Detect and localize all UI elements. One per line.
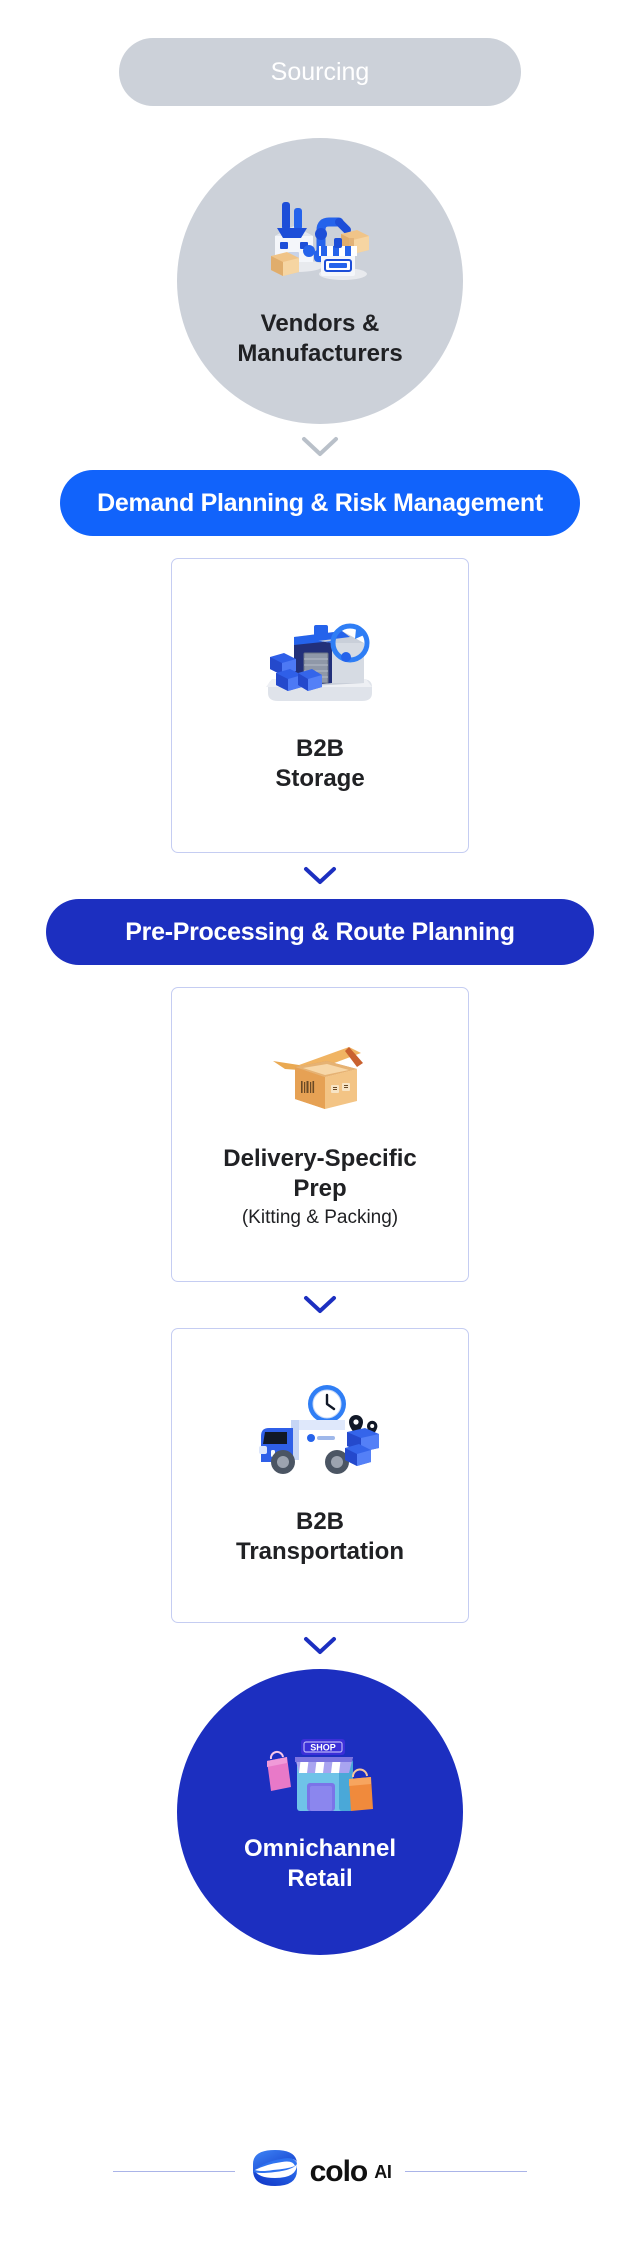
node-delivery-prep-sublabel: (Kitting & Packing): [242, 1206, 398, 1230]
connector-chevron-blue-1: [303, 853, 337, 899]
node-vendors-label-line2: Manufacturers: [237, 339, 402, 368]
stage-pill-pre-processing-label: Pre-Processing & Route Planning: [125, 920, 514, 945]
stage-pill-sourcing: Sourcing: [119, 38, 521, 106]
node-b2b-transportation-label: B2B Transportation: [236, 1507, 404, 1567]
chevron-down-icon: [301, 435, 339, 459]
node-delivery-prep-label: Delivery-Specific Prep: [223, 1144, 416, 1204]
open-cardboard-box-icon: [265, 1039, 375, 1128]
colo-ai-logo: colo AI: [249, 2146, 392, 2197]
warehouse-boxes-icon: [258, 617, 382, 718]
node-b2b-storage-label: B2B Storage: [275, 734, 364, 794]
node-omnichannel-retail-label-line1: Omnichannel: [244, 1834, 396, 1863]
chevron-down-icon: [303, 865, 337, 887]
node-vendors-label-line1: Vendors &: [237, 309, 402, 338]
chevron-down-icon: [303, 1635, 337, 1657]
connector-chevron-blue-3: [303, 1623, 337, 1669]
footer-brand-bar: colo AI: [0, 2146, 640, 2197]
connector-chevron-gray: [301, 424, 339, 470]
factory-robot-arm-supplier-icon: [261, 194, 379, 295]
svg-text:SHOP: SHOP: [310, 1743, 336, 1753]
node-b2b-transportation-label-line1: B2B: [236, 1507, 404, 1537]
node-omnichannel-retail-label: Omnichannel Retail: [244, 1834, 396, 1893]
colo-wordmark: colo: [310, 2157, 368, 2187]
stage-pill-pre-processing: Pre-Processing & Route Planning: [46, 899, 594, 965]
stage-pill-demand-planning-label: Demand Planning & Risk Management: [97, 491, 543, 516]
node-delivery-specific-prep: Delivery-Specific Prep (Kitting & Packin…: [171, 987, 469, 1282]
ai-wordmark: AI: [374, 2163, 391, 2181]
stage-pill-demand-planning: Demand Planning & Risk Management: [60, 470, 580, 536]
connector-chevron-blue-2: [303, 1282, 337, 1328]
node-delivery-prep-label-line2: Prep: [223, 1174, 416, 1204]
chevron-down-icon: [303, 1294, 337, 1316]
node-b2b-transportation-label-line2: Transportation: [236, 1537, 404, 1567]
node-vendors-manufacturers: Vendors & Manufacturers: [177, 138, 463, 424]
node-b2b-storage-label-line1: B2B: [275, 734, 364, 764]
node-b2b-storage: B2B Storage: [171, 558, 469, 853]
colo-ribbon-logo-icon: [249, 2146, 301, 2197]
stage-pill-sourcing-label: Sourcing: [271, 60, 370, 85]
node-omnichannel-retail: SHOP Omnichannel Retail: [177, 1669, 463, 1955]
node-b2b-storage-label-line2: Storage: [275, 764, 364, 794]
node-b2b-transportation: B2B Transportation: [171, 1328, 469, 1623]
footer-rule-right: [405, 2171, 527, 2172]
node-omnichannel-retail-label-line2: Retail: [244, 1864, 396, 1893]
delivery-truck-clock-pins-icon: [253, 1384, 387, 1491]
supply-chain-flow-diagram: Sourcing: [0, 0, 640, 2245]
node-vendors-label: Vendors & Manufacturers: [237, 309, 402, 368]
node-delivery-prep-label-line1: Delivery-Specific: [223, 1144, 416, 1174]
footer-rule-left: [113, 2171, 235, 2172]
storefront-shopping-bags-icon: SHOP: [261, 1731, 379, 1820]
